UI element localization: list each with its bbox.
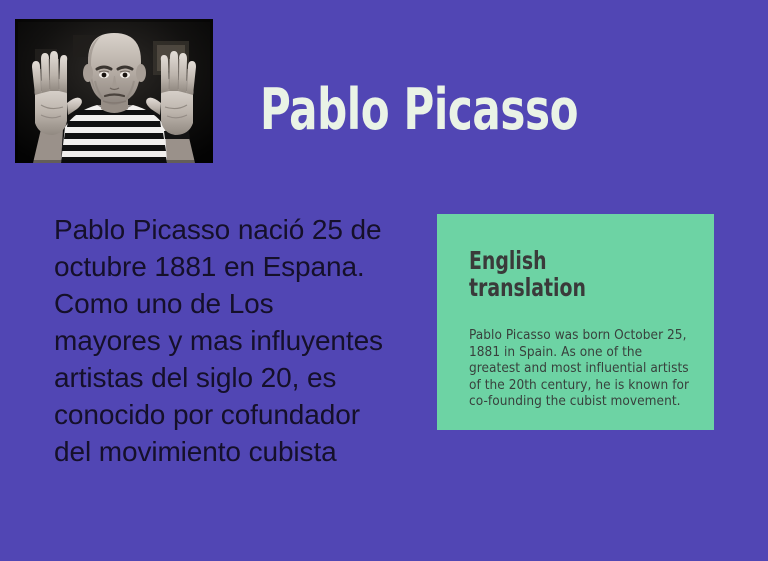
picasso-photo-artwork	[15, 19, 213, 163]
presentation-slide: Pablo Picasso Pablo Picasso nació 25 de …	[0, 0, 768, 561]
picasso-portrait-image	[15, 19, 213, 163]
english-translation-heading: English translation	[469, 247, 654, 301]
english-translation-body: Pablo Picasso was born October 25, 1881 …	[469, 327, 695, 410]
english-translation-card: English translation Pablo Picasso was bo…	[437, 214, 714, 430]
slide-title: Pablo Picasso	[260, 82, 578, 139]
spanish-body-text: Pablo Picasso nació 25 de octubre 1881 e…	[54, 211, 384, 470]
